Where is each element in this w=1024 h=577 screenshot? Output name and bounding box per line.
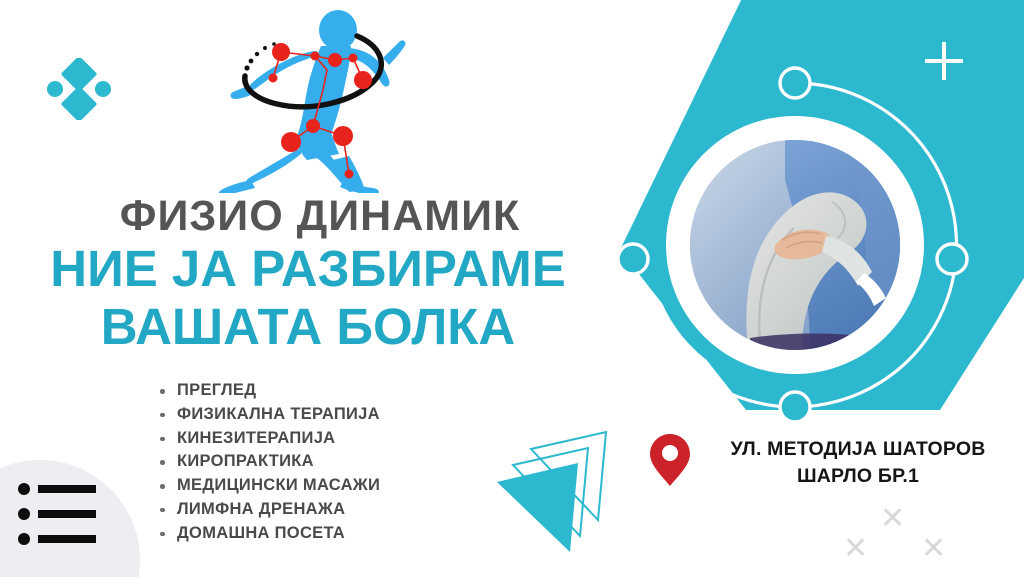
therapy-photo-frame [676, 126, 914, 364]
triangles-decoration [485, 415, 660, 577]
list-item: МЕДИЦИНСКИ МАСАЖИ [152, 474, 380, 498]
services-list: ПРЕГЛЕД ФИЗИКАЛНА ТЕРАПИЈА КИНЕЗИТЕРАПИЈ… [152, 379, 380, 546]
headline: НИЕ ЈА РАЗБИРАМЕ ВАШАТА БОЛКА [0, 240, 616, 356]
map-pin-icon [648, 432, 692, 488]
brand-name: ФИЗИО ДИНАМИК [0, 192, 640, 241]
bulleted-list-icon [18, 483, 98, 547]
runner-logo-icon [205, 8, 420, 193]
address-line-1: УЛ. МЕТОДИЈА ШАТОРОВ [692, 436, 1024, 463]
headline-line-2: ВАШАТА БОЛКА [0, 298, 616, 356]
list-item: ДОМАШНА ПОСЕТА [152, 522, 380, 546]
poster-canvas: ФИЗИО ДИНАМИК НИЕ ЈА РАЗБИРАМЕ ВАШАТА БО… [0, 0, 1024, 577]
therapy-photo [690, 140, 900, 350]
x-mark-icon: ✕ [880, 504, 905, 534]
list-item: ПРЕГЛЕД [152, 379, 380, 403]
plus-icon [925, 42, 963, 80]
list-item: КИРОПРАКТИКА [152, 450, 380, 474]
x-mark-icon: ✕ [843, 534, 868, 564]
address-line-2: ШАРЛО БР.1 [692, 463, 1024, 490]
list-item: ЛИМФНА ДРЕНАЖА [152, 498, 380, 522]
address-block: УЛ. МЕТОДИЈА ШАТОРОВ ШАРЛО БР.1 [648, 430, 1024, 490]
x-mark-icon: ✕ [921, 534, 946, 564]
headline-line-1: НИЕ ЈА РАЗБИРАМЕ [0, 240, 616, 298]
address-text: УЛ. МЕТОДИЈА ШАТОРОВ ШАРЛО БР.1 [692, 430, 1024, 490]
list-item: ФИЗИКАЛНА ТЕРАПИЈА [152, 403, 380, 427]
list-item: КИНЕЗИТЕРАПИЈА [152, 427, 380, 451]
diamond-cluster-icon [46, 58, 112, 120]
